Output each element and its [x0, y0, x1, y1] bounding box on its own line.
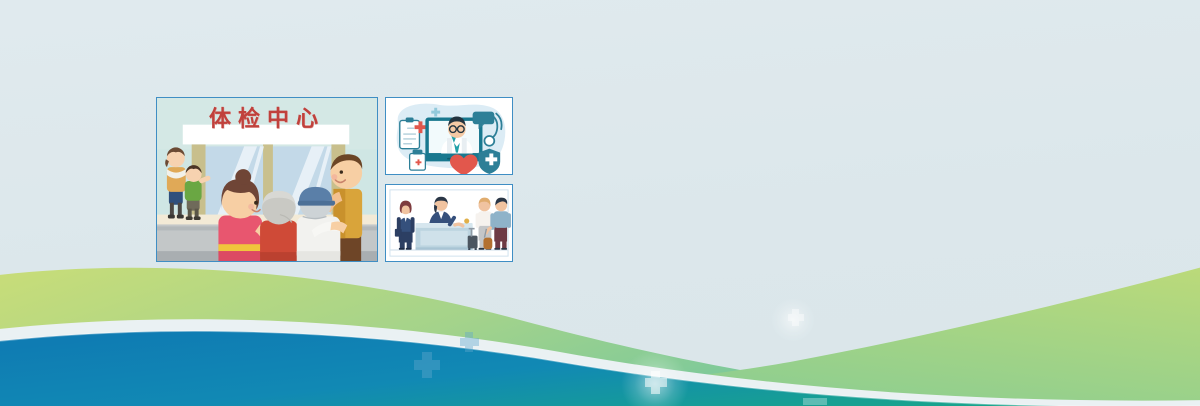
reception-desk — [416, 223, 473, 250]
telemedicine-illustration — [386, 98, 512, 174]
photo-telemedicine[interactable] — [385, 97, 513, 175]
photo-health-exam-center[interactable]: 体检中心 — [156, 97, 378, 262]
figure-visitor-elder — [260, 191, 298, 261]
banner-root: 体检中心 — [0, 0, 1200, 406]
service-bell-icon — [464, 219, 469, 224]
photo-reception-desk[interactable] — [385, 184, 513, 262]
stethoscope-bell — [484, 136, 494, 146]
cross-decoration — [803, 398, 827, 405]
reception-desk-illustration — [386, 185, 512, 261]
photo-cluster: 体检中心 — [156, 97, 513, 262]
health-exam-center-illustration — [157, 98, 377, 261]
